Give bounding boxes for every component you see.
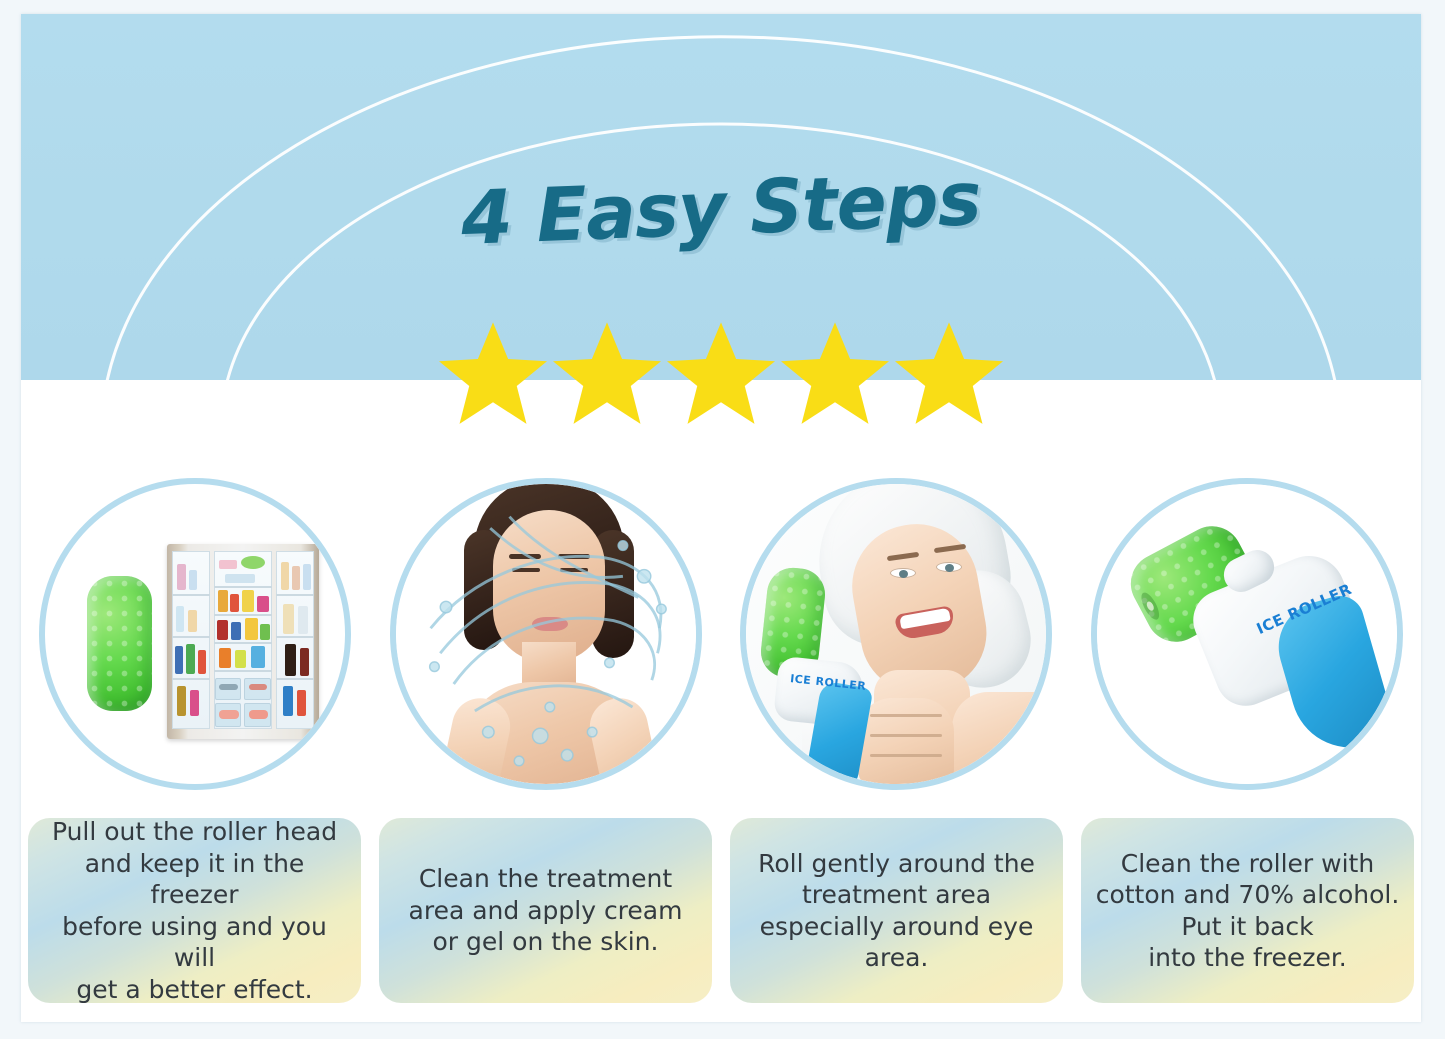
step-1-image-circle bbox=[39, 478, 351, 790]
star-icon bbox=[439, 320, 547, 424]
roller-head-graphic bbox=[87, 576, 152, 711]
step-4-image: ICE ROLLER bbox=[1097, 484, 1397, 784]
step-3-image-circle: ICE ROLLER bbox=[740, 478, 1052, 790]
step-1-caption-text: Pull out the roller head and keep it in … bbox=[28, 816, 361, 1005]
step-1-caption-card: Pull out the roller head and keep it in … bbox=[28, 818, 361, 1003]
star-icon bbox=[667, 320, 775, 424]
step-3-caption-text: Roll gently around the treatment area es… bbox=[748, 848, 1045, 974]
step-images-row: ICE ROLLER ICE ROLLER bbox=[21, 478, 1421, 808]
step-2-caption-text: Clean the treatment area and apply cream… bbox=[399, 863, 693, 958]
star-icon bbox=[781, 320, 889, 424]
star-icon bbox=[895, 320, 1003, 424]
step-3-image: ICE ROLLER bbox=[746, 484, 1046, 784]
step-2-image bbox=[396, 484, 696, 784]
refrigerator-graphic bbox=[167, 544, 319, 739]
water-splash-graphic bbox=[396, 484, 696, 784]
step-4-image-circle: ICE ROLLER bbox=[1091, 478, 1403, 790]
infographic-poster: 4 Easy Steps bbox=[21, 14, 1421, 1022]
star-icon bbox=[553, 320, 661, 424]
page-title: 4 Easy Steps bbox=[460, 156, 983, 262]
step-2-image-circle bbox=[390, 478, 702, 790]
step-captions-row: Pull out the roller head and keep it in … bbox=[21, 818, 1421, 1008]
step-4-caption-text: Clean the roller with cotton and 70% alc… bbox=[1086, 848, 1410, 974]
star-rating bbox=[21, 320, 1421, 430]
step-3-caption-card: Roll gently around the treatment area es… bbox=[730, 818, 1063, 1003]
step-1-image bbox=[45, 484, 345, 784]
step-2-caption-card: Clean the treatment area and apply cream… bbox=[379, 818, 712, 1003]
step-4-caption-card: Clean the roller with cotton and 70% alc… bbox=[1081, 818, 1414, 1003]
